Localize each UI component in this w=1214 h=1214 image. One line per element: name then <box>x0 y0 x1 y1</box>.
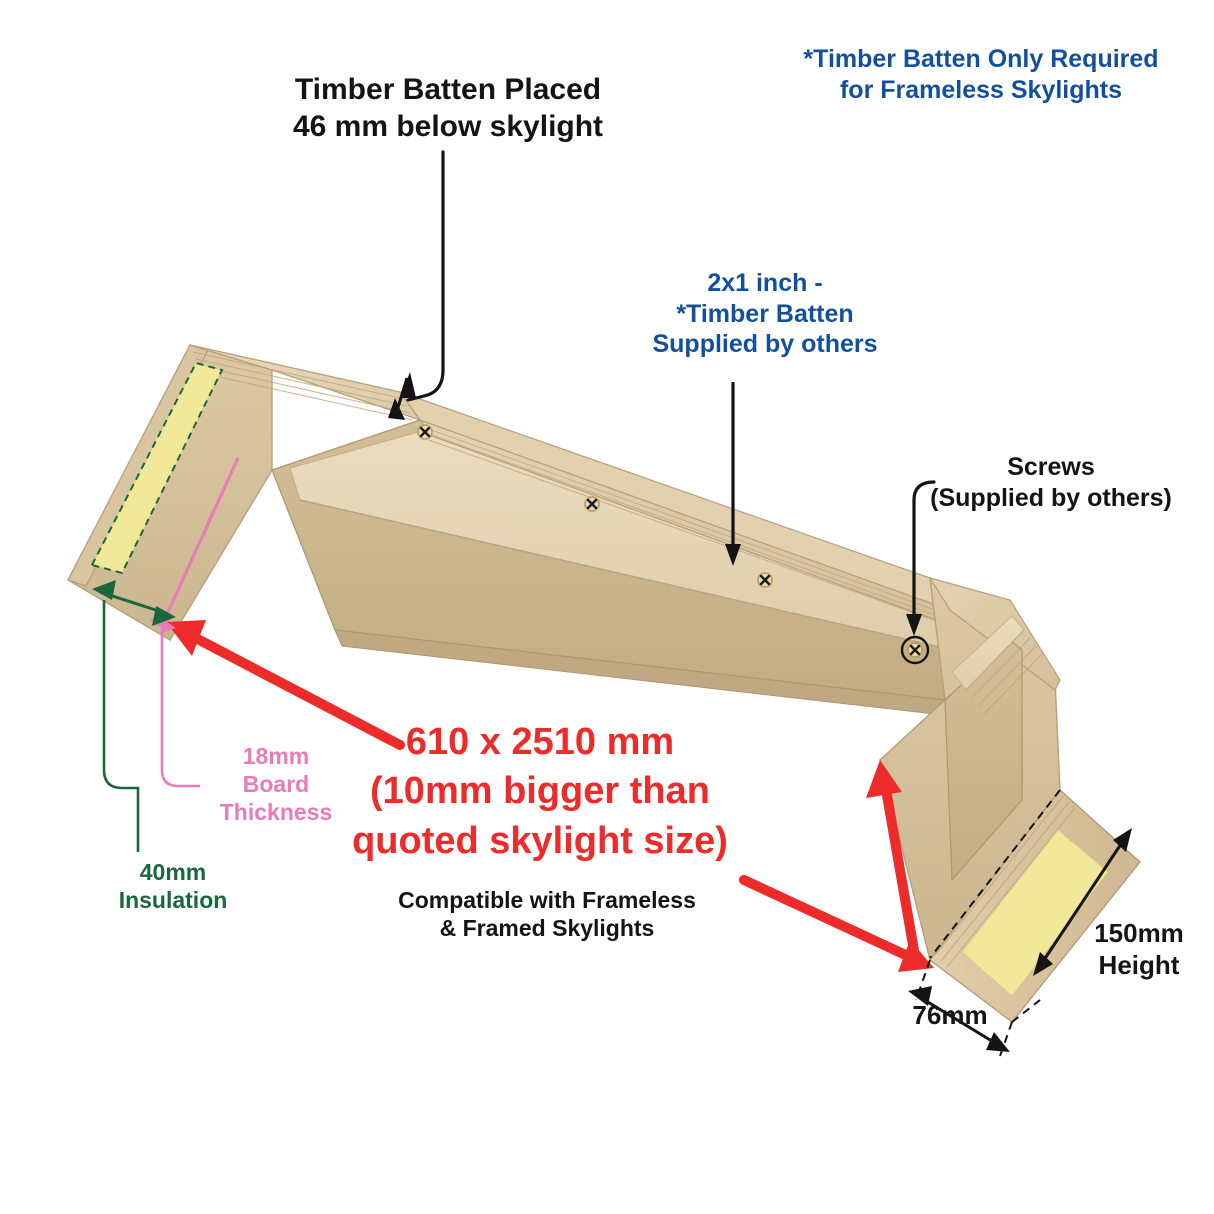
dimension-label-board-thickness: 18mm Board Thickness <box>206 742 346 826</box>
dimension-label-height: 150mm Height <box>1074 918 1204 981</box>
callout-main-size: 610 x 2510 mm (10mm bigger than quoted s… <box>310 718 770 866</box>
leader-batten-placed <box>388 152 443 420</box>
diagram-canvas: Timber Batten Placed 46 mm below skyligh… <box>0 0 1214 1214</box>
callout-frameless-note: *Timber Batten Only Required for Framele… <box>748 44 1214 105</box>
leader-insulation <box>92 580 176 852</box>
callout-screws: Screws (Supplied by others) <box>888 452 1214 513</box>
kerb-illustration <box>0 0 1214 1214</box>
callout-batten-placed: Timber Batten Placed 46 mm below skyligh… <box>248 72 648 145</box>
callout-compatible: Compatible with Frameless & Framed Skyli… <box>372 886 722 942</box>
dimension-label-insulation: 40mm Insulation <box>98 858 248 914</box>
screw-icon-1 <box>418 425 432 439</box>
callout-batten-supply: 2x1 inch - *Timber Batten Supplied by ot… <box>600 268 930 360</box>
screw-icon-3 <box>758 573 772 587</box>
screw-icon-2 <box>585 497 599 511</box>
dimension-label-width: 76mm <box>900 1000 1000 1032</box>
